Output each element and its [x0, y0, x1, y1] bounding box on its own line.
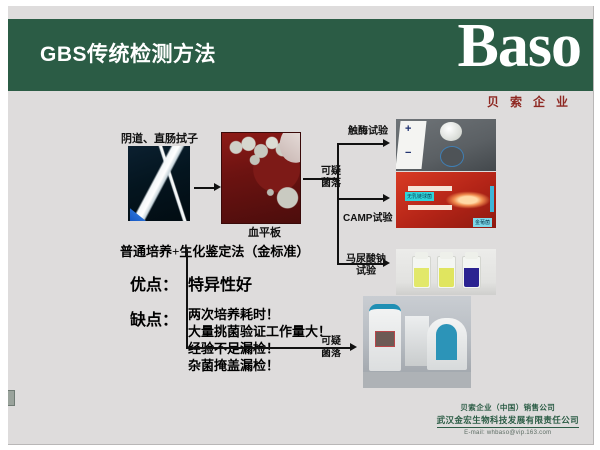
suspect-colony-label-1: 可疑 菌落 — [321, 166, 341, 190]
branch1-vertical-line — [337, 143, 339, 263]
lab-bench — [363, 372, 471, 388]
instrument-unit-c — [427, 318, 467, 370]
cons-item: 两次培养耗时！ — [188, 306, 331, 323]
arrow-swab-to-plate-line — [194, 187, 216, 189]
cons-list: 两次培养耗时！ 大量挑菌验证工作量大！ 经验不足漏检！ 杂菌掩盖漏检！ — [188, 306, 331, 374]
footer: 贝索企业（中国）销售公司 武汉金宏生物科技发展有限责任公司 E-mail: wh… — [437, 402, 579, 436]
branch-camp-line — [337, 198, 385, 200]
vial-2-cap — [440, 252, 453, 259]
instrument-unit-b — [405, 316, 429, 366]
camp-tag-staph: 金葡菌 — [473, 218, 492, 227]
swab-photo — [128, 146, 190, 221]
cons-item: 杂菌掩盖漏检！ — [188, 357, 331, 374]
footer-company-line2: 武汉金宏生物科技发展有限责任公司 — [437, 414, 579, 428]
footer-email: E-mail: whbaso@vip.163.com — [437, 430, 579, 436]
presentation-slide: GBS传统检测方法 Baso 贝索企业 阴道、直肠拭子 血平板 可疑 菌落 触酶… — [8, 6, 594, 445]
branch-camp-arrow — [383, 194, 390, 202]
baso-logo-chinese: 贝索企业 — [487, 93, 579, 110]
pros-key: 优点： — [130, 271, 178, 295]
slide-edge-marker — [8, 390, 15, 406]
camp-streak-top — [408, 186, 452, 191]
hippurate-test-label: 马尿酸钠 试验 — [346, 254, 386, 278]
swab-label: 阴道、直肠拭子 — [121, 130, 198, 146]
vial-1-cap — [415, 252, 428, 259]
camp-vertical-streak — [490, 186, 494, 212]
camp-test-label: CAMP试验 — [343, 209, 392, 224]
method-text: 普通培养+生化鉴定法（金标准） — [120, 241, 309, 260]
vial-3-liquid — [464, 268, 479, 287]
vial-1-liquid — [414, 268, 429, 287]
cons-key: 缺点： — [130, 306, 178, 330]
branch2-arrow — [350, 343, 357, 351]
vial-3-cap — [465, 252, 478, 259]
vial-3 — [462, 256, 481, 289]
camp-streak-bottom — [408, 205, 452, 210]
catalase-minus-mark: − — [405, 147, 411, 159]
branch-catalase-line — [337, 143, 385, 145]
instrument-screen — [375, 331, 395, 347]
blood-plate-label: 血平板 — [248, 224, 281, 240]
branch-catalase-arrow — [383, 139, 390, 147]
catalase-plus-mark: + — [405, 123, 411, 135]
cons-item: 大量挑菌验证工作量大！ — [188, 323, 331, 340]
page-title: GBS传统检测方法 — [40, 38, 216, 68]
catalase-test-label: 触酶试验 — [348, 122, 388, 137]
catalase-positive-well — [440, 122, 462, 141]
slide-header: GBS传统检测方法 Baso — [8, 19, 593, 91]
blood-agar-plate-photo — [221, 132, 301, 224]
vial-2 — [437, 256, 456, 289]
lab-instrument-photo — [363, 296, 471, 388]
camp-test-plate-photo: 无乳链球菌 金葡菌 — [396, 172, 496, 228]
vial-2-liquid — [439, 268, 454, 287]
baso-logo: Baso — [458, 15, 581, 77]
camp-tag-gbs: 无乳链球菌 — [405, 192, 434, 201]
vial-1 — [412, 256, 431, 289]
catalase-test-photo: + − — [396, 119, 496, 171]
hippurate-vials-photo — [396, 249, 496, 295]
footer-company-line1: 贝索企业（中国）销售公司 — [437, 402, 579, 413]
suspect-colony-label-2: 可疑 菌落 — [321, 336, 341, 360]
catalase-negative-well — [440, 146, 464, 167]
arrow-swab-to-plate-head — [214, 183, 221, 191]
branch2-vertical-line — [186, 249, 188, 349]
instrument-unit-a — [369, 304, 401, 371]
instrument-arch — [436, 324, 457, 360]
pros-value: 特异性好 — [188, 271, 252, 295]
